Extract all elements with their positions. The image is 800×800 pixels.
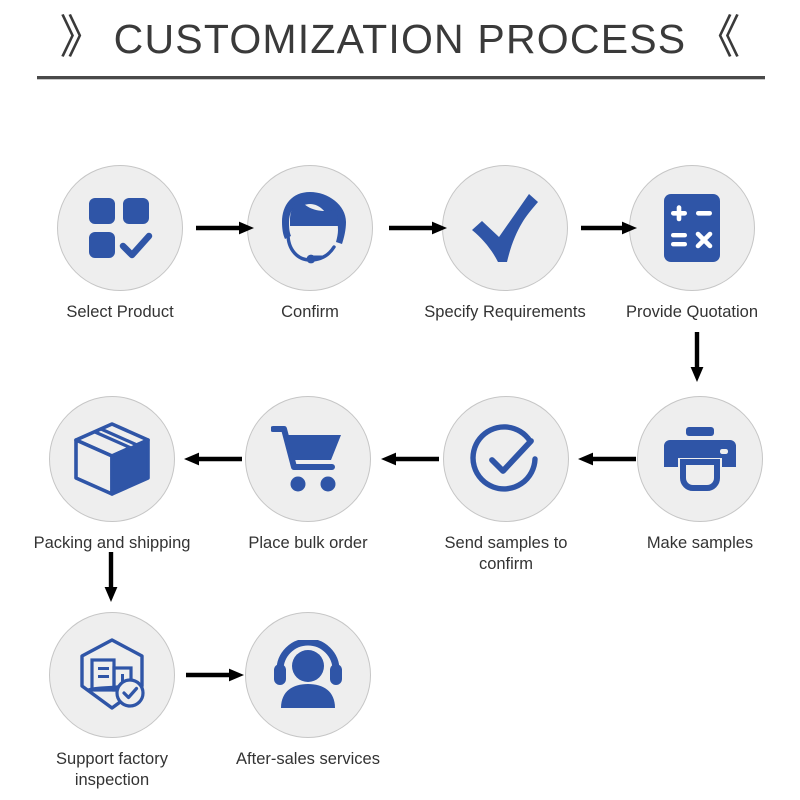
circle-check-icon [443, 396, 569, 522]
arrow-make-samples-to-send-samples [578, 448, 636, 470]
grid-check-icon [57, 165, 183, 291]
process-step-1-1[interactable]: Select Product [35, 165, 205, 323]
process-step-label: Select Product [66, 302, 173, 323]
arrow-place-bulk-order-to-packing-shipping [184, 448, 242, 470]
arrow-packing-shipping-to-support-factory [101, 552, 121, 602]
page-header: 》 CUSTOMIZATION PROCESS 《 [0, 0, 800, 92]
customization-process-infographic: 》 CUSTOMIZATION PROCESS 《 Select Product… [0, 0, 800, 800]
package-box-icon [49, 396, 175, 522]
process-step-3-2[interactable]: After-sales services [223, 612, 393, 770]
headset-person-icon [245, 612, 371, 738]
process-step-1-3[interactable]: Specify Requirements [420, 165, 590, 323]
double-chevron-right-icon: 》 [60, 14, 106, 60]
process-step-2-2[interactable]: Place bulk order [223, 396, 393, 554]
process-step-label: Support factory inspection [56, 749, 168, 790]
factory-inspection-shield-icon [49, 612, 175, 738]
process-step-label: After-sales services [236, 749, 380, 770]
title-divider [37, 76, 765, 80]
arrow-send-samples-to-place-bulk-order [381, 448, 439, 470]
process-step-label: Specify Requirements [424, 302, 585, 323]
arrow-support-factory-to-after-sales [186, 664, 244, 686]
process-step-2-1[interactable]: Packing and shipping [27, 396, 197, 554]
process-step-label: Send samples to confirm [421, 533, 591, 574]
arrow-specify-requirements-to-quotation [581, 217, 637, 239]
calculator-icon [629, 165, 755, 291]
process-step-label: Place bulk order [248, 533, 367, 554]
process-step-label: Packing and shipping [34, 533, 191, 554]
process-step-label: Make samples [647, 533, 753, 554]
process-step-2-3[interactable]: Send samples to confirm [421, 396, 591, 574]
title-row: 》 CUSTOMIZATION PROCESS 《 [0, 8, 800, 70]
shopping-cart-icon [245, 396, 371, 522]
support-agent-icon [247, 165, 373, 291]
process-step-label: Provide Quotation [626, 302, 758, 323]
process-step-1-2[interactable]: Confirm [225, 165, 395, 323]
process-step-label: Confirm [281, 302, 339, 323]
arrow-select-product-to-confirm [196, 217, 254, 239]
arrow-confirm-to-specify-requirements [389, 217, 447, 239]
process-step-1-4[interactable]: Provide Quotation [607, 165, 777, 323]
printer-icon [637, 396, 763, 522]
check-mark-icon [442, 165, 568, 291]
page-title: CUSTOMIZATION PROCESS [114, 19, 687, 60]
arrow-quotation-to-make-samples [687, 332, 707, 382]
process-step-2-4[interactable]: Make samples [615, 396, 785, 554]
double-chevron-left-icon: 《 [694, 14, 740, 60]
process-step-3-1[interactable]: Support factory inspection [27, 612, 197, 790]
